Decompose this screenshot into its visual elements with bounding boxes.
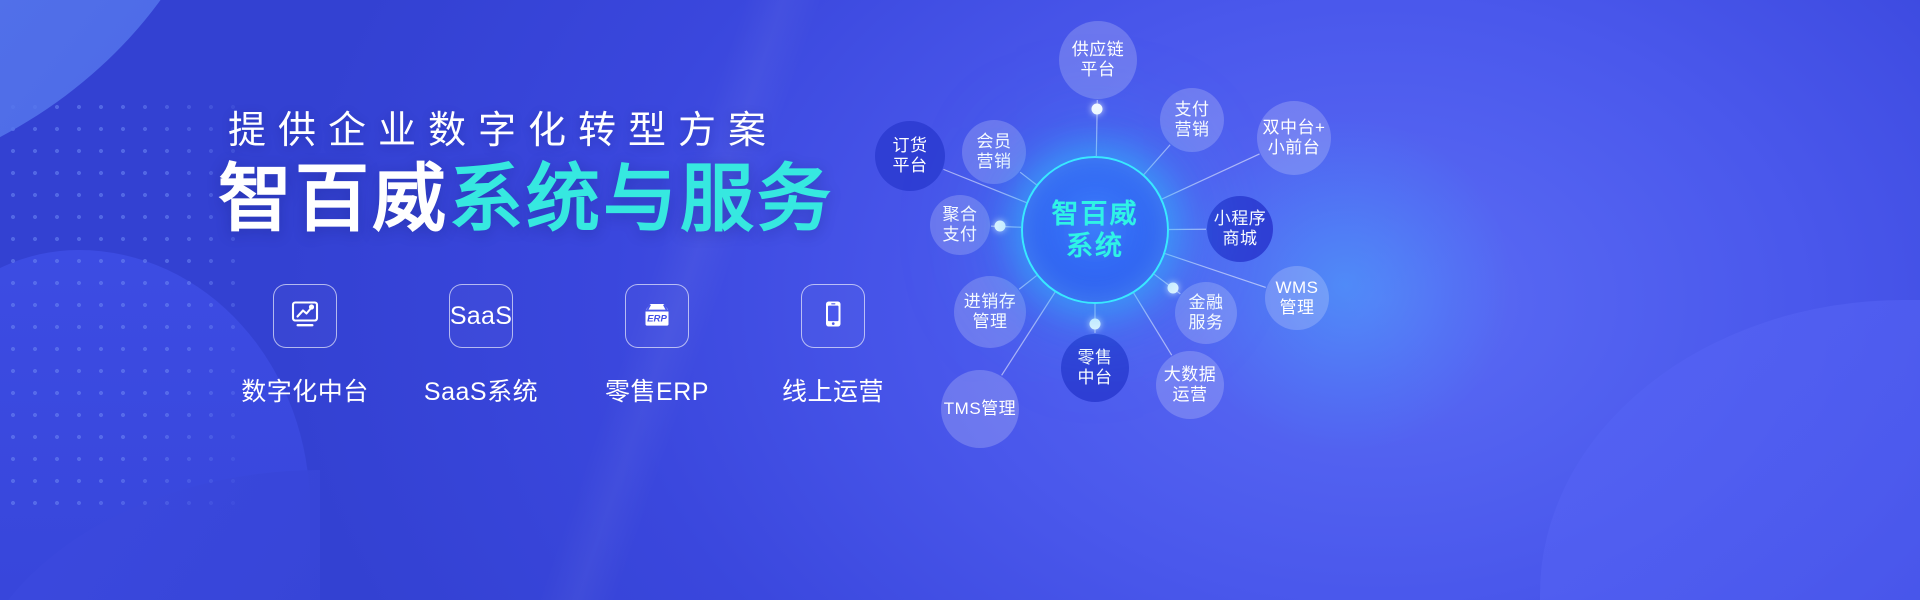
diagram-node-supply-chain[interactable]: 供应链平台 bbox=[1059, 21, 1137, 99]
headline-brand: 智百威 bbox=[218, 157, 449, 240]
connector-line-payment-marketing bbox=[1144, 145, 1170, 175]
headline-accent: 系统与服务 bbox=[449, 157, 834, 240]
diagram-node-inventory[interactable]: 进销存管理 bbox=[954, 276, 1026, 348]
node-label-line-2: 小前台 bbox=[1263, 138, 1326, 158]
node-label-line-2: 平台 bbox=[1072, 60, 1125, 80]
feature-label: 数字化中台 bbox=[241, 372, 369, 408]
node-label-line-1: 零售 bbox=[1078, 348, 1113, 368]
node-label-line-2: 平台 bbox=[893, 156, 928, 176]
marketing-copy: 提供企业数字化转型方案 智百威系统与服务 数字化中台 bbox=[0, 0, 900, 600]
node-label-line-2: 运营 bbox=[1164, 385, 1217, 405]
feature-item-saas[interactable]: SaaS SaaS系统 bbox=[421, 284, 541, 408]
feature-icon-box bbox=[273, 284, 337, 348]
node-label-line-1: 金融 bbox=[1189, 293, 1224, 313]
node-label-line-1: 供应链 bbox=[1072, 40, 1125, 60]
connector-line-inventory bbox=[1019, 276, 1037, 290]
hub-line-1: 智百威 bbox=[1052, 198, 1139, 230]
node-label-line-2: 中台 bbox=[1078, 368, 1113, 388]
node-label-line-2: 管理 bbox=[964, 312, 1017, 332]
node-label-line-1: 会员 bbox=[977, 132, 1012, 152]
sub-headline: 提供企业数字化转型方案 bbox=[228, 99, 778, 154]
diagram-hub-node[interactable]: 智百威 系统 bbox=[1021, 156, 1169, 304]
connector-line-member-marketing bbox=[1020, 172, 1036, 185]
node-label-line-2: 管理 bbox=[1275, 298, 1318, 318]
feature-icon-box: SaaS bbox=[449, 284, 513, 348]
connector-line-dual-mid-front bbox=[1162, 154, 1259, 199]
hub-line-2: 系统 bbox=[1052, 230, 1139, 262]
diagram-node-member-marketing[interactable]: 会员营销 bbox=[962, 120, 1026, 184]
node-label-line-1: 小程序 bbox=[1214, 209, 1267, 229]
saas-text-icon: SaaS bbox=[450, 302, 512, 331]
diagram-node-dual-mid-front[interactable]: 双中台+小前台 bbox=[1257, 101, 1331, 175]
feature-label: 零售ERP bbox=[605, 372, 709, 408]
connector-dot-retail-mid bbox=[1090, 319, 1101, 330]
diagram-node-big-data[interactable]: 大数据运营 bbox=[1156, 351, 1224, 419]
diagram-node-retail-mid[interactable]: 零售中台 bbox=[1061, 334, 1129, 402]
feature-item-retail-erp[interactable]: ERP 零售ERP bbox=[597, 284, 717, 408]
connector-line-big-data bbox=[1134, 293, 1172, 355]
diagram-node-order-platform[interactable]: 订货平台 bbox=[875, 121, 945, 191]
diagram-node-tms[interactable]: TMS管理 bbox=[941, 370, 1019, 448]
node-label-line-1: 双中台+ bbox=[1263, 118, 1326, 138]
node-label-line-1: TMS管理 bbox=[944, 399, 1016, 419]
diagram-node-aggregate-pay[interactable]: 聚合支付 bbox=[930, 195, 990, 255]
feature-label: SaaS系统 bbox=[424, 372, 538, 408]
banner-root: 提供企业数字化转型方案 智百威系统与服务 数字化中台 bbox=[0, 0, 1920, 600]
chart-image-icon bbox=[288, 297, 322, 336]
feature-item-digital-midend[interactable]: 数字化中台 bbox=[245, 284, 365, 408]
diagram-node-wms[interactable]: WMS管理 bbox=[1265, 266, 1329, 330]
node-label-line-1: 大数据 bbox=[1164, 365, 1217, 385]
diagram-node-mini-program-mall[interactable]: 小程序商城 bbox=[1207, 196, 1273, 262]
node-label-line-2: 商城 bbox=[1214, 229, 1267, 249]
feature-icon-box: ERP bbox=[625, 284, 689, 348]
feature-list: 数字化中台 SaaS SaaS系统 ERP bbox=[245, 284, 893, 408]
ecosystem-diagram: 供应链平台订货平台会员营销支付营销双中台+小前台聚合支付小程序商城WMS管理进销… bbox=[820, 0, 1920, 600]
node-label-line-1: 订货 bbox=[893, 136, 928, 156]
node-label-line-2: 营销 bbox=[977, 152, 1012, 172]
node-label-line-1: 支付 bbox=[1175, 100, 1210, 120]
connector-dot-aggregate-pay bbox=[994, 221, 1005, 232]
node-label-line-2: 服务 bbox=[1189, 313, 1224, 333]
erp-box-icon: ERP bbox=[639, 296, 675, 337]
node-label-line-2: 营销 bbox=[1175, 120, 1210, 140]
node-label-line-1: 聚合 bbox=[943, 205, 978, 225]
connector-dot-finance-service bbox=[1168, 283, 1179, 294]
diagram-node-payment-marketing[interactable]: 支付营销 bbox=[1160, 88, 1224, 152]
node-label-line-2: 支付 bbox=[943, 225, 978, 245]
diagram-node-finance-service[interactable]: 金融服务 bbox=[1175, 282, 1237, 344]
page-title: 智百威系统与服务 bbox=[218, 162, 834, 236]
connector-dot-supply-chain bbox=[1092, 103, 1103, 114]
svg-text:ERP: ERP bbox=[647, 313, 667, 324]
node-label-line-1: WMS bbox=[1275, 278, 1318, 298]
node-label-line-1: 进销存 bbox=[964, 292, 1017, 312]
